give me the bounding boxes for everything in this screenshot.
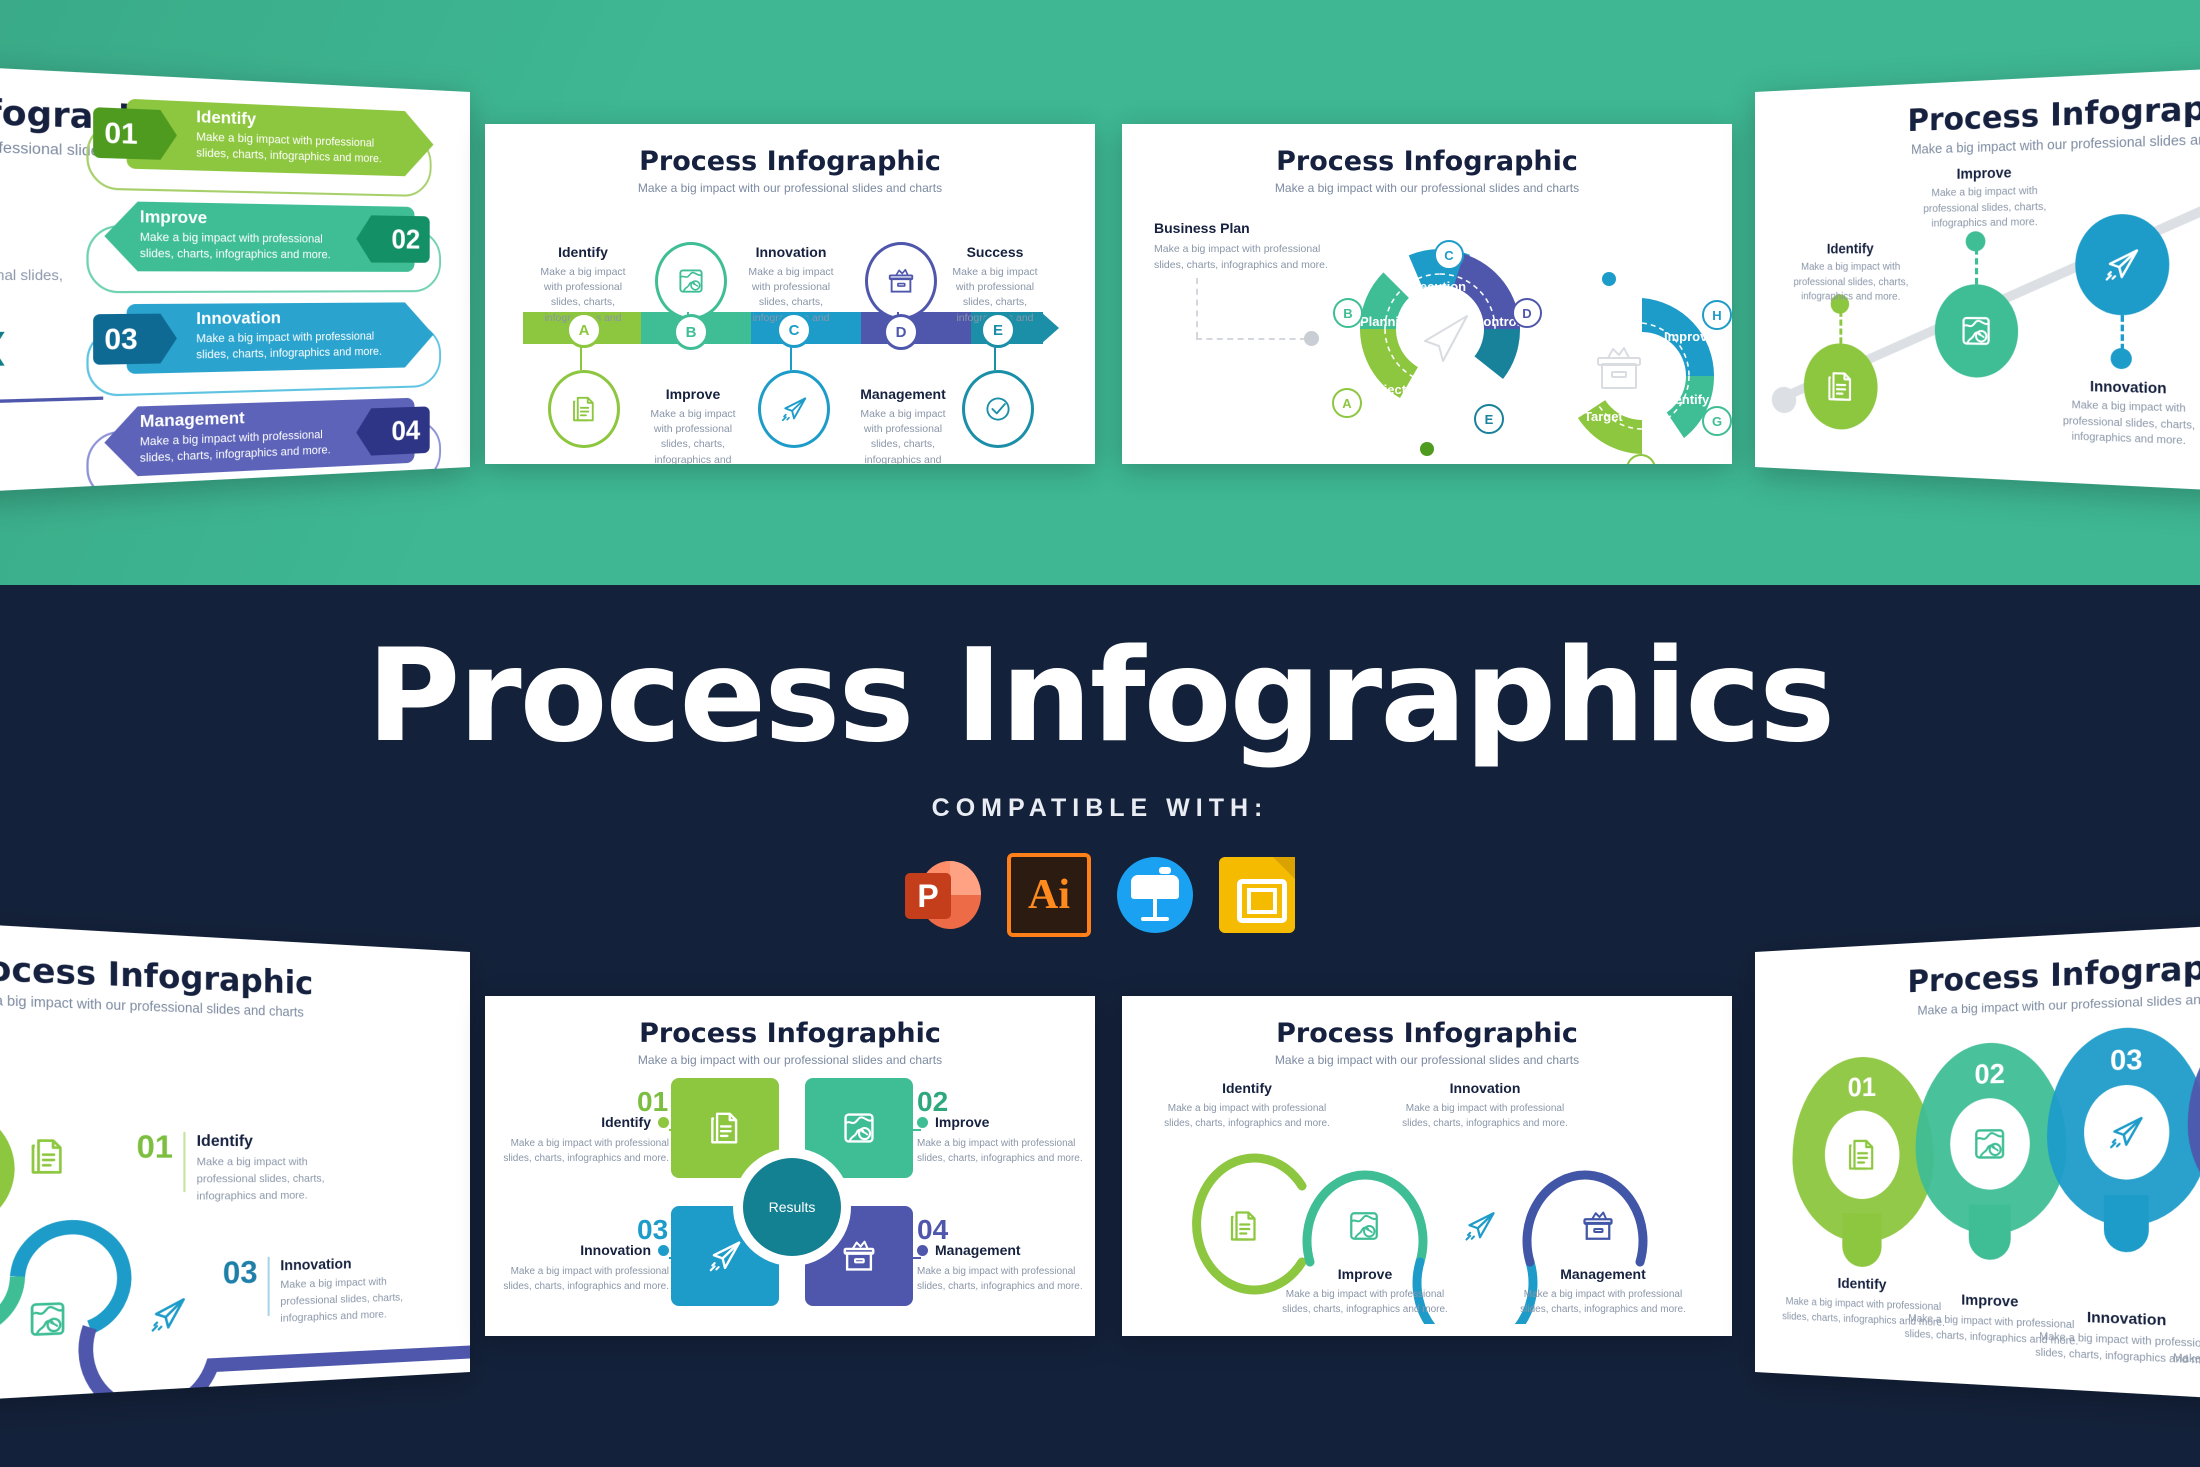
slide-card-4[interactable]: Process Infographic Make a big impact wi… bbox=[1755, 56, 2200, 502]
slide3-label-Project: Project bbox=[1362, 382, 1406, 397]
paper-plane-icon bbox=[2106, 1112, 2146, 1152]
slide7-step-4[interactable]: Management Make a big impact with profes… bbox=[1520, 1266, 1686, 1317]
row-text: Make a big impact with professional slid… bbox=[196, 329, 389, 365]
slide4-connector-1 bbox=[1839, 311, 1842, 344]
document-icon bbox=[706, 1109, 744, 1147]
map-icon bbox=[840, 1109, 878, 1147]
step-label: Innovation bbox=[721, 244, 861, 260]
slide3-side-text: Make a big impact with professional slid… bbox=[1154, 242, 1344, 274]
slide3-subtitle: Make a big impact with our professional … bbox=[1122, 181, 1732, 195]
step-text: Make a big impact with professional slid… bbox=[2043, 397, 2200, 451]
balloon-number: 04 bbox=[2188, 1025, 2200, 1065]
compatible-logo-row: P Ai bbox=[0, 853, 2200, 937]
slide3-label-Target: Target bbox=[1584, 409, 1623, 424]
slide3-label-Identify-E: Identify bbox=[1492, 376, 1538, 391]
slide2-icon-ring-B bbox=[655, 242, 727, 320]
balloon-icon-circle bbox=[1825, 1110, 1900, 1199]
balloon-number: 02 bbox=[1916, 1056, 2067, 1092]
slide3-badge-C: C bbox=[1434, 240, 1464, 270]
slide6-step-4[interactable]: Management Make a big impact with profes… bbox=[917, 1242, 1085, 1294]
illustrator-letter: Ai bbox=[1028, 871, 1070, 919]
map-icon bbox=[1346, 1208, 1382, 1244]
step-label: Identify bbox=[1778, 240, 1924, 257]
step-label: Innovation bbox=[280, 1253, 437, 1274]
row-label: Identify bbox=[196, 108, 256, 130]
step-label: Improve bbox=[1282, 1266, 1448, 1282]
step-number: 03 bbox=[223, 1257, 258, 1290]
row-text: Make a big impact with professional slid… bbox=[196, 130, 389, 169]
slide6-step-2[interactable]: Improve Make a big impact with professio… bbox=[917, 1114, 1085, 1166]
slide8-balloon-3[interactable]: 03 bbox=[2047, 1025, 2200, 1227]
slide7-icon-4 bbox=[1580, 1208, 1616, 1249]
keynote-stem-icon bbox=[1153, 899, 1157, 919]
step-text: Make a big impact with professional slid… bbox=[1905, 184, 2067, 233]
slide1-row-3[interactable]: 03 Innovation Make a big impact with pro… bbox=[86, 302, 465, 397]
slide3-pointer-green bbox=[1420, 442, 1434, 456]
slide4-dot-3 bbox=[2111, 348, 2132, 369]
slide4-dot-2 bbox=[1966, 231, 1986, 251]
row-label: Management bbox=[140, 409, 245, 432]
slide3-leader-line bbox=[1196, 278, 1199, 338]
balloon-icon-circle bbox=[1950, 1098, 2030, 1190]
slide6-title: Process Infographic bbox=[485, 1018, 1095, 1049]
powerpoint-letter: P bbox=[905, 873, 951, 919]
slide4-step-2[interactable]: Improve Make a big impact with professio… bbox=[1905, 163, 2067, 233]
step-label: Innovation bbox=[2043, 377, 2200, 398]
slide2-badge-E: E bbox=[980, 312, 1016, 348]
slide3-badge-D: D bbox=[1512, 298, 1542, 328]
slide2-icon-ring-C bbox=[758, 370, 830, 448]
slide4-connector-3 bbox=[2121, 315, 2124, 350]
map-icon bbox=[676, 266, 706, 296]
step-text: Make a big impact with professional slid… bbox=[1402, 1101, 1568, 1131]
slide6-connector-1 bbox=[669, 1129, 683, 1131]
slide5-icon-3 bbox=[148, 1293, 189, 1341]
step-bullet-dot bbox=[658, 1245, 669, 1256]
step-text: Make a big impact with professional slid… bbox=[1164, 1101, 1330, 1131]
slide6-step-1[interactable]: Identify Make a big impact with professi… bbox=[499, 1114, 669, 1166]
powerpoint-square: P bbox=[905, 873, 951, 919]
illustrator-logo[interactable]: Ai bbox=[1007, 853, 1091, 937]
slide8-balloon-2[interactable]: 02 bbox=[1916, 1041, 2067, 1236]
ballot-box-icon bbox=[840, 1237, 878, 1275]
step-label: Identify bbox=[601, 1114, 651, 1130]
slide-card-1[interactable]: Process Infographic Make a big impact wi… bbox=[0, 55, 470, 504]
slide4-connector-2 bbox=[1975, 248, 1978, 284]
slide-card-3[interactable]: Process Infographic Make a big impact wi… bbox=[1122, 124, 1732, 464]
row-label: Improve bbox=[140, 208, 207, 228]
step-label: Success bbox=[925, 244, 1065, 260]
step-label: Improve bbox=[1905, 163, 2067, 183]
keynote-podium-icon bbox=[1131, 875, 1179, 899]
step-text: Make a big impact with professional slid… bbox=[2167, 1350, 2200, 1396]
slide4-bubble-1[interactable] bbox=[1804, 343, 1878, 431]
slide3-badge-H: H bbox=[1702, 300, 1732, 330]
google-slides-frame-icon bbox=[1237, 879, 1287, 923]
slide2-subtitle: Make a big impact with our professional … bbox=[485, 181, 1095, 195]
balloon-number: 01 bbox=[1792, 1070, 1933, 1105]
slide2-step-D[interactable]: Management Make a big impact with profes… bbox=[833, 386, 973, 464]
hero-section: Process Infographics COMPATIBLE WITH: P … bbox=[0, 585, 2200, 1015]
compatible-with-label: COMPATIBLE WITH: bbox=[0, 794, 2200, 823]
paper-plane-icon bbox=[779, 394, 809, 424]
slide7-subtitle: Make a big impact with our professional … bbox=[1122, 1053, 1732, 1067]
step-label: Improve bbox=[623, 386, 763, 402]
map-icon bbox=[26, 1297, 70, 1341]
slide1-side-text: Make a big impact with professional slid… bbox=[0, 263, 67, 309]
document-icon bbox=[1844, 1136, 1879, 1173]
step-label: Management bbox=[833, 386, 973, 402]
step-number: 01 bbox=[137, 1131, 173, 1164]
slide2-title: Process Infographic bbox=[485, 146, 1095, 177]
slide8-balloon-1[interactable]: 01 bbox=[1792, 1055, 1933, 1244]
slide6-subtitle: Make a big impact with our professional … bbox=[485, 1053, 1095, 1067]
slide6-connector-2 bbox=[901, 1129, 921, 1131]
slide2-badge-C: C bbox=[776, 312, 812, 348]
slide4-bubble-3[interactable] bbox=[2075, 213, 2169, 315]
step-text: Make a big impact with professional slid… bbox=[917, 1136, 1085, 1166]
slide2-icon-ring-A bbox=[548, 370, 620, 448]
document-icon bbox=[569, 394, 599, 424]
google-slides-logo[interactable] bbox=[1219, 857, 1295, 933]
step-bullet-dot bbox=[917, 1117, 928, 1128]
slide1-row-1[interactable]: 01 Identify Make a big impact with profe… bbox=[86, 97, 465, 198]
step-text: Make a big impact with professional slid… bbox=[280, 1273, 437, 1327]
slide1-row-2[interactable]: 02 Improve Make a big impact with profes… bbox=[86, 201, 465, 294]
slide5-icon-2 bbox=[26, 1297, 70, 1347]
slide6-connector-3 bbox=[669, 1257, 683, 1259]
slide3-label-Execution: Execution bbox=[1404, 279, 1466, 294]
slide3-leader-dot bbox=[1304, 331, 1319, 346]
paper-plane-icon bbox=[706, 1237, 744, 1275]
keynote-logo[interactable] bbox=[1117, 857, 1193, 933]
slide3-badge-E: E bbox=[1474, 404, 1504, 434]
slide2-badge-A: A bbox=[566, 312, 602, 348]
slide4-track-start-dot bbox=[1772, 386, 1796, 413]
slide5-step-3[interactable]: 03 Innovation Make a big impact with pro… bbox=[223, 1251, 470, 1330]
step-text: Make a big impact with professional slid… bbox=[1520, 1287, 1686, 1317]
row-number-badge: 03 bbox=[93, 313, 177, 364]
slide7-icon-1 bbox=[1226, 1208, 1262, 1249]
step-bullet-dot bbox=[917, 1245, 928, 1256]
slide2-step-B[interactable]: Improve Make a big impact with professio… bbox=[623, 386, 763, 464]
slide7-step-1[interactable]: Identify Make a big impact with professi… bbox=[1164, 1080, 1330, 1131]
slide4-step-1[interactable]: Identify Make a big impact with professi… bbox=[1778, 240, 1924, 305]
ballot-box-icon bbox=[1580, 1208, 1616, 1244]
ballot-box-icon bbox=[886, 266, 916, 296]
step-text: Make a big impact with professional slid… bbox=[499, 1136, 669, 1166]
slide7-icon-2 bbox=[1346, 1208, 1382, 1249]
balloon-number: 03 bbox=[2047, 1041, 2200, 1079]
slide5-icon-1 bbox=[26, 1135, 70, 1183]
document-icon bbox=[1226, 1208, 1262, 1244]
step-label: Identify bbox=[513, 244, 653, 260]
document-icon bbox=[1824, 369, 1857, 405]
slide1-chevron-list: 01 Identify Make a big impact with profe… bbox=[86, 97, 465, 501]
step-text: Make a big impact with professional slid… bbox=[623, 407, 763, 464]
paper-plane-icon bbox=[148, 1293, 189, 1336]
slide7-icon-3 bbox=[1462, 1208, 1498, 1249]
slide3-badge-G: G bbox=[1702, 406, 1732, 436]
slide3-side-block: Business Plan Make a big impact with pro… bbox=[1154, 220, 1344, 274]
paper-plane-icon bbox=[2102, 245, 2142, 285]
keynote-knob-icon bbox=[1159, 867, 1171, 874]
document-icon bbox=[26, 1135, 70, 1178]
map-icon bbox=[1971, 1125, 2009, 1163]
balloon-tail bbox=[1969, 1204, 2011, 1260]
slide7-step-2[interactable]: Improve Make a big impact with professio… bbox=[1282, 1266, 1448, 1317]
slide-card-7[interactable]: Process Infographic Make a big impact wi… bbox=[1122, 996, 1732, 1336]
slide-card-6[interactable]: Process Infographic Make a big impact wi… bbox=[485, 996, 1095, 1336]
step-text: Make a big impact with professional slid… bbox=[1282, 1287, 1448, 1317]
step-text: Make a big impact with professional slid… bbox=[197, 1154, 366, 1205]
step-label: Identify bbox=[197, 1132, 366, 1151]
slide3-label-Identify-G: Identify bbox=[1663, 392, 1709, 407]
step-label: Improve bbox=[935, 1114, 989, 1130]
slide3-label-Planning: Planning bbox=[1360, 314, 1415, 329]
slide3-badge-A: A bbox=[1332, 388, 1362, 418]
step-label: Innovation bbox=[1402, 1080, 1568, 1096]
slide8-step-4[interactable]: Management Make a big impact with profes… bbox=[2167, 1324, 2200, 1396]
step-label: Management bbox=[1520, 1266, 1686, 1282]
slide7-step-3[interactable]: Innovation Make a big impact with profes… bbox=[1402, 1080, 1568, 1131]
slide2-badge-B: B bbox=[673, 314, 709, 350]
step-text: Make a big impact with professional slid… bbox=[917, 1264, 1085, 1294]
balloon-tail bbox=[1842, 1213, 1881, 1267]
check-circle-icon bbox=[983, 394, 1013, 424]
powerpoint-logo[interactable]: P bbox=[905, 857, 981, 933]
slide-card-2[interactable]: Process Infographic Make a big impact wi… bbox=[485, 124, 1095, 464]
paper-plane-icon bbox=[1462, 1208, 1498, 1244]
row-label: Innovation bbox=[196, 309, 281, 329]
step-text: Make a big impact with professional slid… bbox=[1778, 260, 1924, 305]
slide6-center-circle[interactable]: Results bbox=[743, 1158, 841, 1256]
slide5-step-1[interactable]: 01 Identify Make a big impact with profe… bbox=[137, 1131, 433, 1205]
balloon-tail bbox=[2104, 1195, 2149, 1253]
slide3-label-Improve: Improve bbox=[1664, 329, 1715, 344]
google-slides-fold-icon bbox=[1273, 857, 1295, 879]
slide3-pointer-blue bbox=[1602, 272, 1616, 286]
slide4-bubble-2[interactable] bbox=[1935, 284, 2018, 378]
slide3-right-arc bbox=[1542, 276, 1732, 464]
slide7-title: Process Infographic bbox=[1122, 1018, 1732, 1049]
slide2-badge-D: D bbox=[883, 314, 919, 350]
step-label: Innovation bbox=[580, 1242, 651, 1258]
row-text: Make a big impact with professional slid… bbox=[140, 230, 349, 264]
step-text: Make a big impact with professional slid… bbox=[833, 407, 973, 464]
slide3-side-heading: Business Plan bbox=[1154, 220, 1344, 236]
slide2-icon-ring-E bbox=[962, 370, 1034, 448]
slide3-badge-B: B bbox=[1333, 298, 1363, 328]
map-icon bbox=[1958, 313, 1993, 349]
row-number-badge: 02 bbox=[356, 215, 429, 263]
slide3-leader-line-h bbox=[1196, 338, 1306, 340]
keynote-base-icon bbox=[1141, 917, 1169, 921]
step-bullet-dot bbox=[658, 1117, 669, 1128]
slide8-balloon-4[interactable]: 04 bbox=[2188, 1008, 2200, 1217]
slide6-connector-4 bbox=[901, 1257, 921, 1259]
step-text: Make a big impact with professional slid… bbox=[499, 1264, 669, 1294]
balloon-icon-circle bbox=[2084, 1084, 2169, 1180]
slide4-step-3[interactable]: Innovation Make a big impact with profes… bbox=[2043, 377, 2200, 452]
slide6-step-3[interactable]: Innovation Make a big impact with profes… bbox=[499, 1242, 669, 1294]
page-title: Process Infographics bbox=[0, 585, 2200, 764]
step-label: Management bbox=[935, 1242, 1021, 1258]
step-label: Identify bbox=[1164, 1080, 1330, 1096]
slide3-title: Process Infographic bbox=[1122, 146, 1732, 177]
